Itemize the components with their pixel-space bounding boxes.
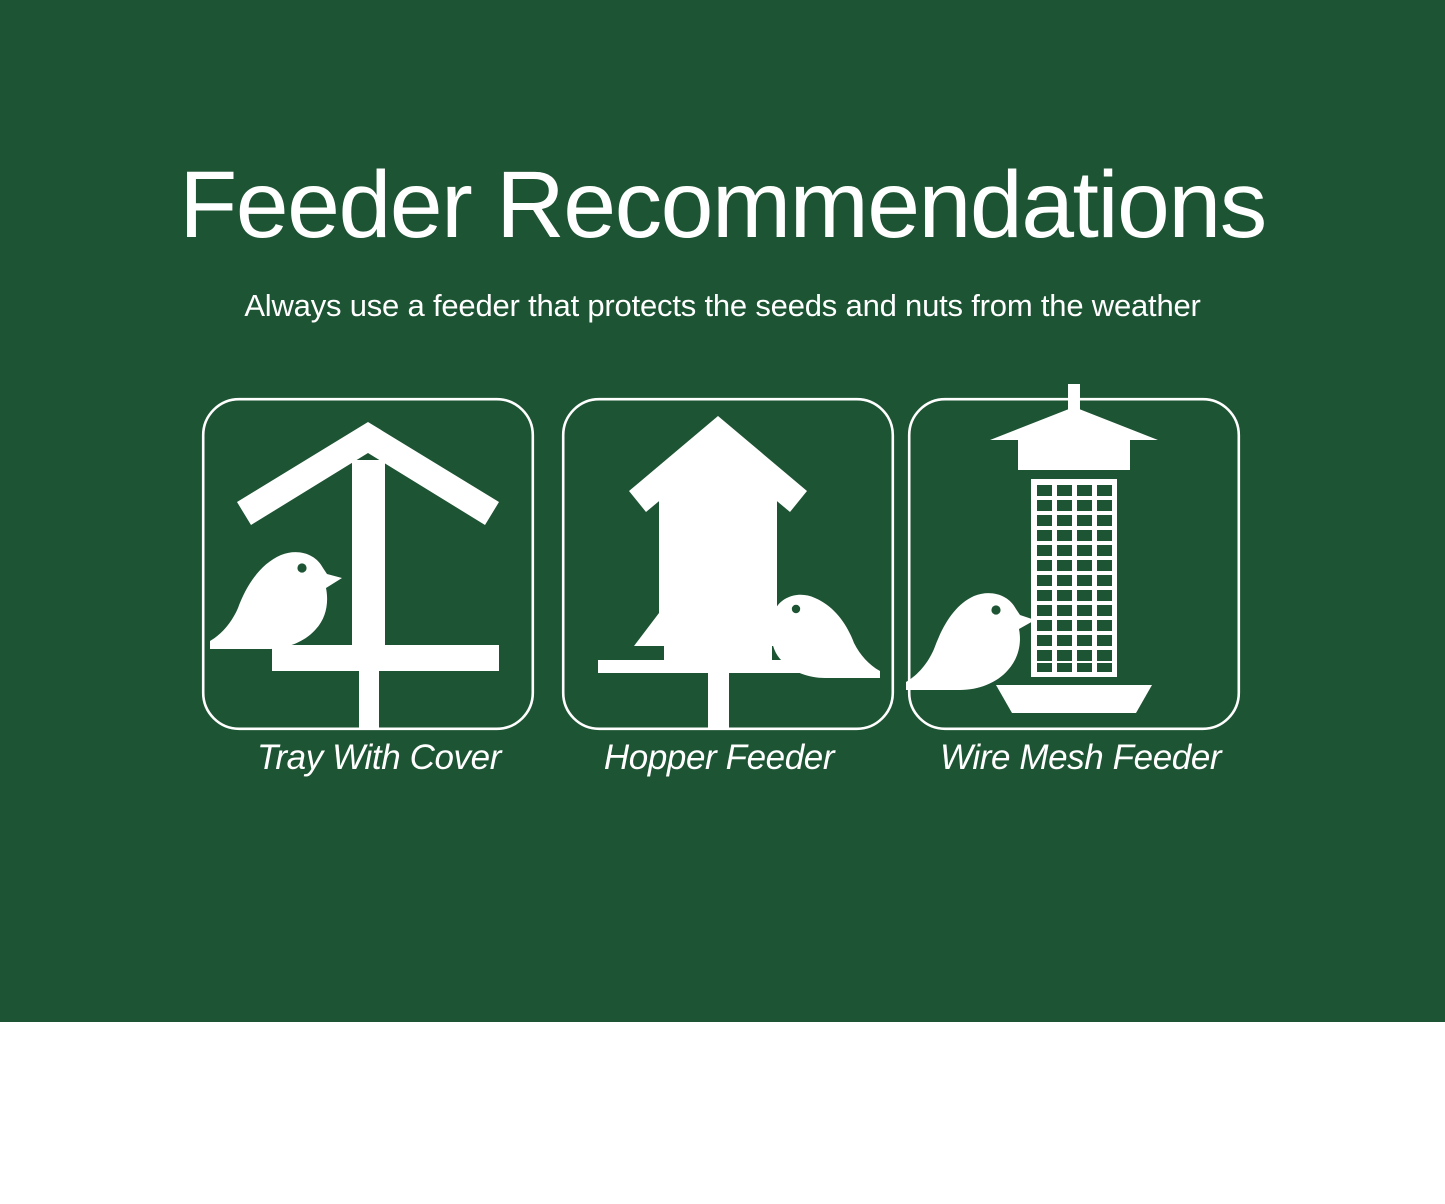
bird-glyph (210, 552, 342, 649)
footer-bar: Lyric ® Wild Bird Food (0, 1022, 1445, 1204)
hopper-feeder-icon (562, 398, 894, 730)
feeder-card-hopper-feeder: Hopper Feeder (562, 398, 904, 730)
page-subtitle: Always use a feeder that protects the se… (0, 288, 1445, 324)
feeder-label-wire-mesh-feeder: Wire Mesh Feeder (940, 738, 1320, 778)
feeder-label-hopper-feeder: Hopper Feeder (548, 738, 890, 778)
bird-glyph (906, 593, 1035, 690)
feeder-card-wire-mesh-feeder: Wire Mesh Feeder (908, 398, 1250, 730)
base-tray (996, 685, 1152, 713)
feeder-recommendations-page: Feeder Recommendations Always use a feed… (0, 0, 1445, 1204)
feeder-icon-row: Tray With Cover (0, 398, 1445, 808)
feeder-label-tray-with-cover: Tray With Cover (208, 738, 550, 778)
wire-mesh-feeder-icon (908, 398, 1240, 730)
page-title: Feeder Recommendations (0, 156, 1445, 256)
feeder-card-tray-with-cover: Tray With Cover (202, 398, 544, 730)
tray-with-cover-icon (202, 398, 534, 730)
